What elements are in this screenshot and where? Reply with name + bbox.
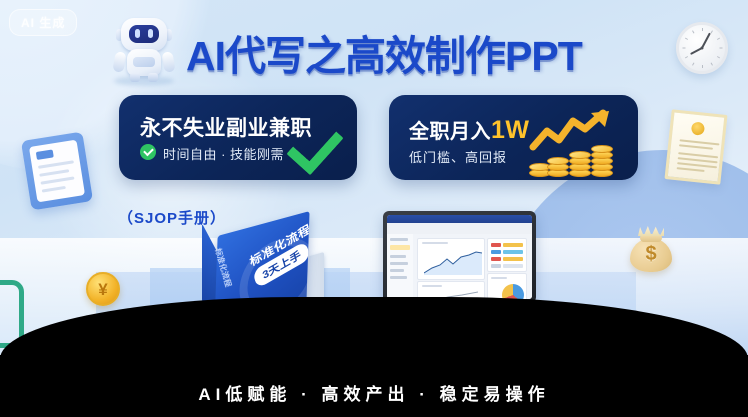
ai-generated-badge: AI 生成	[9, 9, 77, 36]
promo-poster: AI 生成 AI代写之高效制作PPT 永不失业副业兼职 时间自由 · 技能刚需 …	[0, 0, 748, 417]
feature-card-left-subtitle: 时间自由 · 技能刚需	[163, 144, 284, 163]
feature-card-left-title: 永不失业副业兼职	[140, 112, 312, 142]
yen-symbol: ¥	[88, 279, 118, 301]
dollar-symbol: $	[627, 242, 675, 266]
pie-chart-icon	[502, 284, 524, 299]
check-circle-icon	[140, 144, 156, 160]
line-chart-icon	[424, 251, 482, 275]
line-chart-pane	[417, 238, 485, 280]
feature-card-right-highlight: 1W	[491, 116, 530, 144]
money-bag-icon: $	[627, 226, 675, 274]
feature-card-left: 永不失业副业兼职 时间自由 · 技能刚需	[119, 95, 357, 180]
app-canvas	[413, 234, 532, 299]
feature-card-right-title: 全职月入1W	[409, 115, 530, 145]
document-clipboard-icon	[21, 132, 93, 211]
feature-card-right-title-prefix: 全职月入	[409, 121, 491, 143]
certificate-icon	[664, 109, 727, 184]
yen-coin-icon: ¥	[86, 272, 120, 306]
robot-mascot-icon	[108, 16, 180, 88]
page-title: AI代写之高效制作PPT	[186, 22, 582, 82]
app-titlebar	[387, 215, 532, 223]
wall-clock-icon	[676, 22, 728, 74]
pie-chart-pane	[487, 273, 527, 299]
coin-stack-icon	[529, 133, 629, 177]
bottom-banner-text: AI低赋能 · 高效产出 · 稳定易操作	[0, 380, 748, 405]
book-cover-pill: 3天上手	[252, 241, 309, 289]
feature-card-right-subtitle: 低门槛、高回报	[409, 147, 507, 166]
big-check-icon	[295, 115, 341, 161]
monitor-screen	[387, 215, 532, 299]
book-cover-title: 标准化流程	[248, 215, 310, 270]
feature-card-right: 全职月入1W 低门槛、高回报	[389, 95, 638, 180]
bar-list-pane	[487, 238, 527, 272]
app-sidebar	[387, 234, 414, 299]
